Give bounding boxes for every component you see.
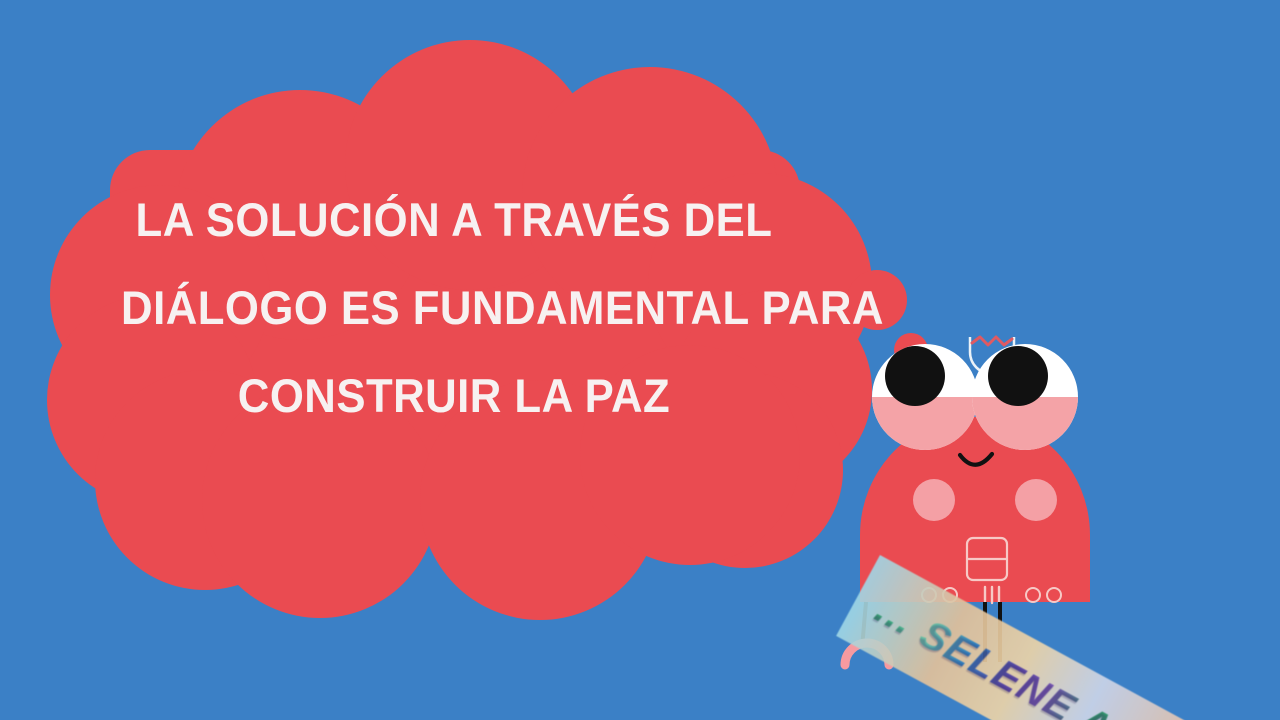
page-title: LA SOLUCIÓN A TRAVÉS DEL DIÁLOGO ES FUND… bbox=[121, 176, 787, 440]
slide-canvas: LA SOLUCIÓN A TRAVÉS DEL DIÁLOGO ES FUND… bbox=[0, 0, 1280, 720]
robot-pupil-right bbox=[988, 346, 1048, 406]
robot-eye-left bbox=[872, 344, 978, 450]
robot-cheek-right bbox=[1015, 479, 1057, 521]
headline-line-2: DIÁLOGO ES FUNDAMENTAL PARA bbox=[121, 264, 787, 352]
antenna-wave-icon bbox=[972, 337, 1012, 345]
robot-cheek-left bbox=[913, 479, 955, 521]
robot-eye-right bbox=[972, 344, 1078, 450]
headline-line-3: CONSTRUIR LA PAZ bbox=[121, 352, 787, 440]
headline-line-1: LA SOLUCIÓN A TRAVÉS DEL bbox=[121, 176, 787, 264]
robot-pupil-left bbox=[885, 346, 945, 406]
